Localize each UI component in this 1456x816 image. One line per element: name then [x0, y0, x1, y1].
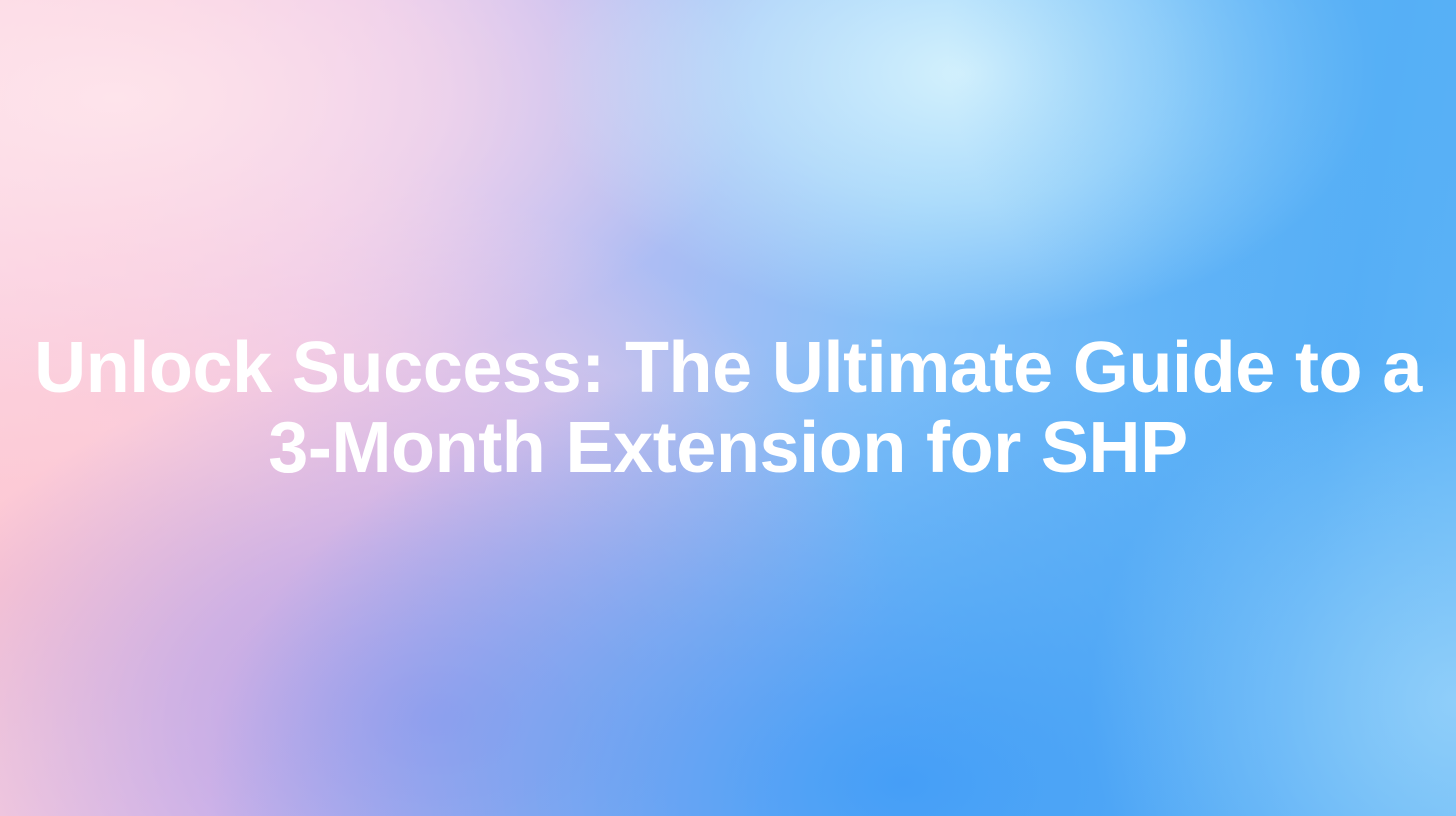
hero-banner: Unlock Success: The Ultimate Guide to a …	[0, 0, 1456, 816]
banner-headline: Unlock Success: The Ultimate Guide to a …	[34, 328, 1422, 488]
headline-container: Unlock Success: The Ultimate Guide to a …	[0, 0, 1456, 816]
